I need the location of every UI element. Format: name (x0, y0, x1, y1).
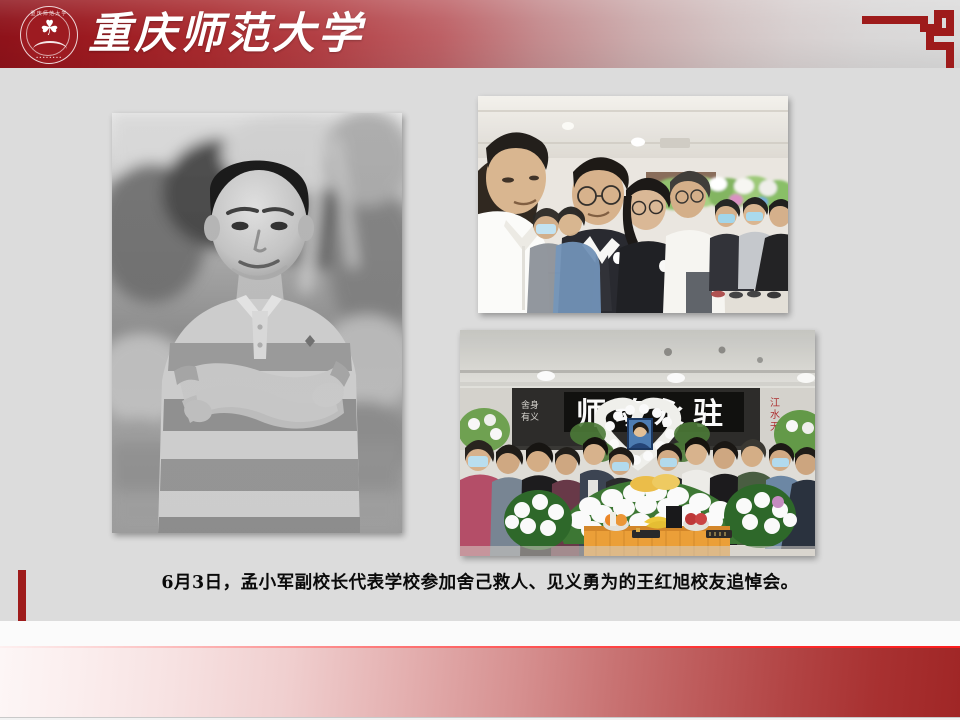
slide-header: 重庆师范大学 ☘ •••••••• 重庆师范大学 (0, 0, 960, 68)
seal-arc-bottom-text: •••••••• (21, 56, 77, 61)
university-name-title: 重庆师范大学 (88, 5, 364, 63)
photo-memorial-hall: 师魂永驻 舍身 有义 江 水 无 (460, 330, 815, 556)
slide-caption: 6月3日，孟小军副校长代表学校参加舍己救人、见义勇为的王红旭校友追悼会。 (0, 570, 960, 596)
photo-mourning-ceremony (478, 96, 788, 313)
presentation-slide: 重庆师范大学 ☘ •••••••• 重庆师范大学 (0, 0, 960, 720)
footer-gradient-band (0, 648, 960, 718)
seal-flame-emblem-icon: ☘ (21, 18, 77, 39)
seal-book-icon (33, 41, 67, 51)
university-seal-icon: 重庆师范大学 ☘ •••••••• (20, 6, 78, 64)
photo-memorial-portrait (112, 113, 402, 533)
